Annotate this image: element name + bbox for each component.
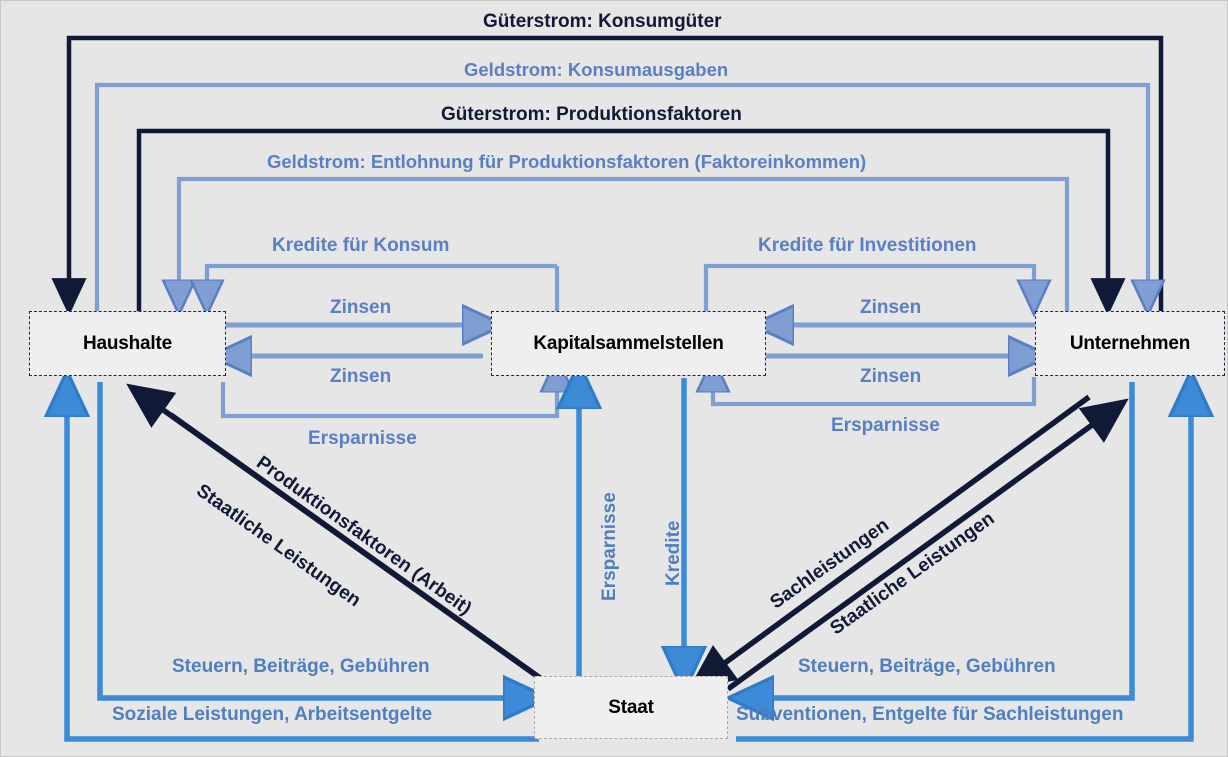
label-subventionen-entgelte: Subventionen, Entgelte für Sachleistunge… [736,705,1123,724]
node-unternehmen[interactable]: Unternehmen [1035,311,1225,376]
node-kapitalsammelstellen[interactable]: Kapitalsammelstellen [491,311,766,376]
node-kapitalsammelstellen-label: Kapitalsammelstellen [533,333,723,355]
label-kredite-fuer-konsum: Kredite für Konsum [272,236,449,255]
label-zinsen-unternehmen-out: Zinsen [860,367,921,386]
node-staat[interactable]: Staat [534,676,728,739]
label-zinsen-unternehmen-in: Zinsen [860,298,921,317]
label-soziale-leistungen-arbeitsentgelte: Soziale Leistungen, Arbeitsentgelte [112,705,432,724]
label-kredite-fuer-investitionen: Kredite für Investitionen [758,236,977,255]
circular-flow-diagram: Haushalte Kapitalsammelstellen Unternehm… [0,0,1228,757]
label-ersparnisse-haushalte: Ersparnisse [308,429,417,448]
label-geldstrom-faktoreinkommen: Geldstrom: Entlohnung für Produktionsfak… [267,153,866,172]
flow-staatliche-leistungen-haushalte [171,415,557,690]
label-geldstrom-konsumausgaben: Geldstrom: Konsumausgaben [464,61,728,80]
label-ersparnisse-unternehmen: Ersparnisse [831,416,940,435]
node-haushalte-label: Haushalte [83,333,172,355]
label-steuern-beitraege-gebuehren-unternehmen: Steuern, Beiträge, Gebühren [798,657,1056,676]
flow-sachleistungen [707,397,1089,676]
node-unternehmen-label: Unternehmen [1070,333,1190,355]
label-ersparnisse-staat: Ersparnisse [600,492,619,601]
node-staat-label: Staat [608,697,653,719]
label-gueterstrom-produktionsfaktoren: Güterstrom: Produktionsfaktoren [441,105,742,124]
label-steuern-beitraege-gebuehren-haushalte: Steuern, Beiträge, Gebühren [172,657,430,676]
flow-subventionen-entgelte [736,394,1191,739]
label-zinsen-haushalte-in: Zinsen [330,367,391,386]
label-zinsen-haushalte-out: Zinsen [330,298,391,317]
flow-staatliche-leistungen-unternehmen [728,412,1110,689]
label-gueterstrom-konsumgueter: Güterstrom: Konsumgüter [483,12,722,31]
node-haushalte[interactable]: Haushalte [29,311,226,376]
label-kredite-staat: Kredite [664,521,683,586]
